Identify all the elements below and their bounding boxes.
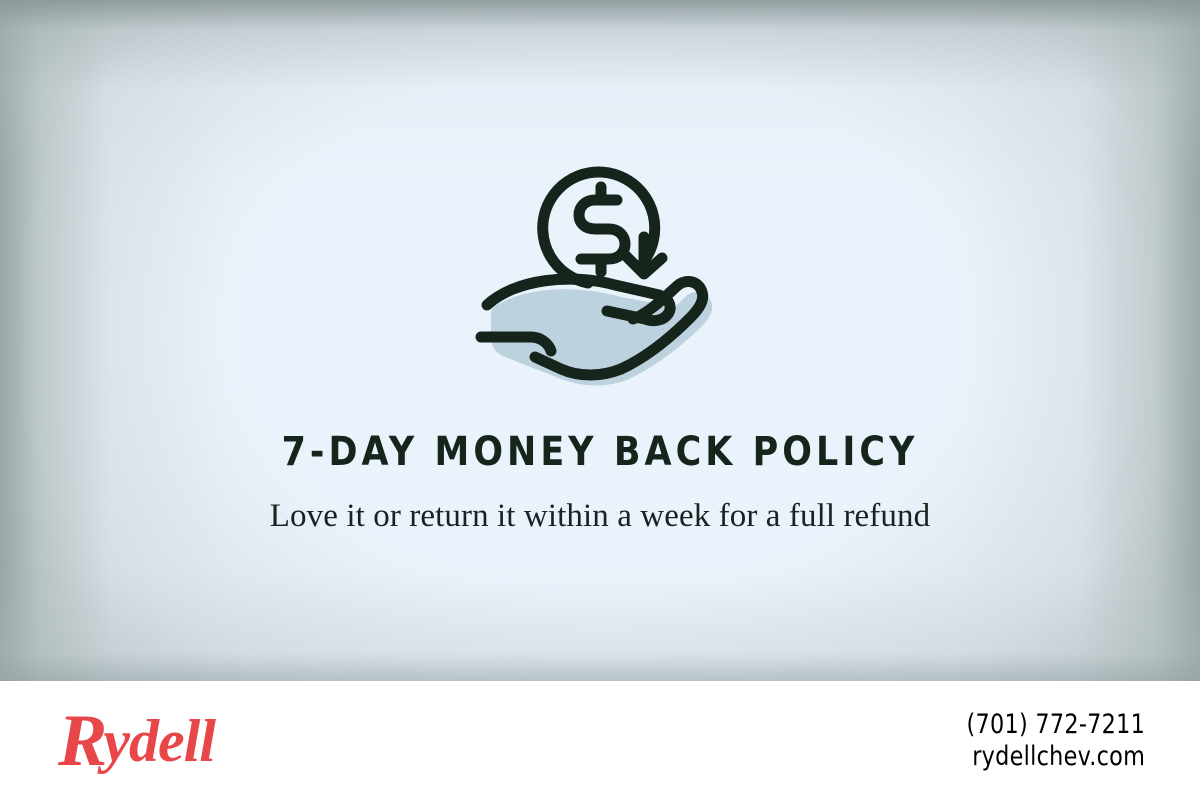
page-subtitle: Love it or return it within a week for a… [250,495,950,539]
rydell-logo[interactable]: Rydell [58,711,215,771]
dollar-sign-icon [579,187,625,272]
logo-initial: R [58,700,106,782]
icon-container [0,150,1200,400]
contact-block: (701) 772-7211 rydellchev.com [951,709,1145,772]
page-title: 7-DAY MONEY BACK POLICY [18,432,1182,472]
money-back-hand-icon [469,155,731,395]
footer-bar: Rydell (701) 772-7211 rydellchev.com [0,681,1200,800]
promo-card: 7-DAY MONEY BACK POLICY Love it or retur… [0,0,1200,800]
website-url[interactable]: rydellchev.com [966,741,1145,772]
hero-panel: 7-DAY MONEY BACK POLICY Love it or retur… [0,0,1200,681]
logo-wordmark: ydell [103,708,215,774]
phone-number[interactable]: (701) 772-7211 [966,709,1145,740]
